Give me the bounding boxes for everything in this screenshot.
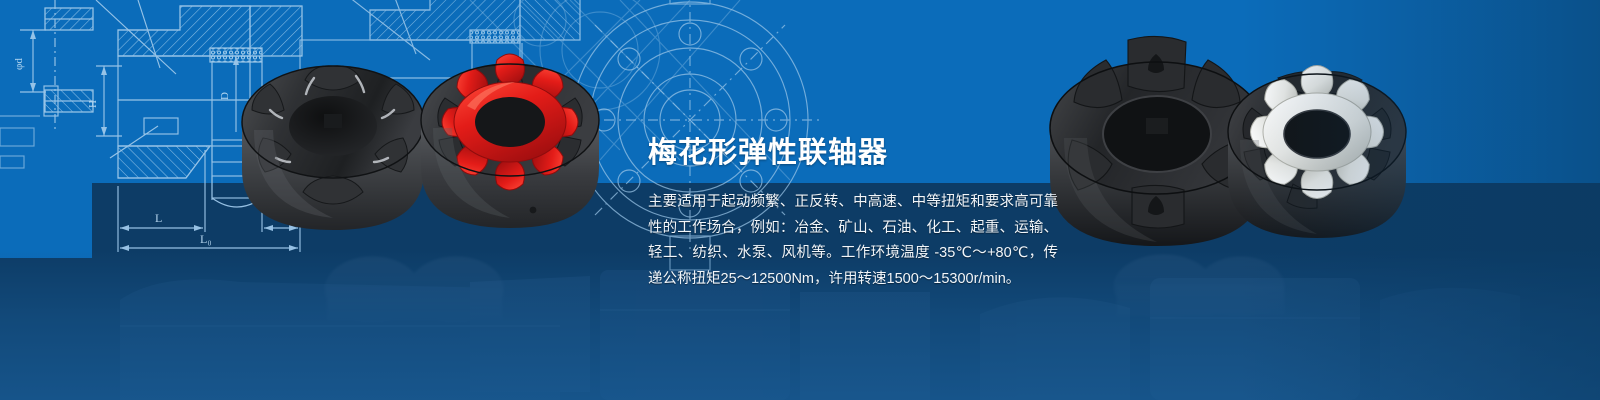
product-coupling-with-red-spider bbox=[405, 14, 615, 244]
product-description: 主要适用于起动频繁、正反转、中高速、中等扭矩和要求高可靠性的工作场合，例如：冶金… bbox=[648, 190, 1058, 292]
page-title: 梅花形弹性联轴器 bbox=[648, 139, 888, 168]
right-edge-vignette bbox=[1240, 0, 1600, 400]
svg-text:H: H bbox=[87, 100, 99, 108]
svg-text:φd: φd bbox=[13, 58, 25, 70]
product-description-text: 主要适用于起动频繁、正反转、中高速、中等扭矩和要求高可靠性的工作场合，例如：冶金… bbox=[648, 190, 1058, 292]
svg-text:L: L bbox=[155, 211, 162, 225]
product-banner: φd bbox=[0, 0, 1600, 400]
